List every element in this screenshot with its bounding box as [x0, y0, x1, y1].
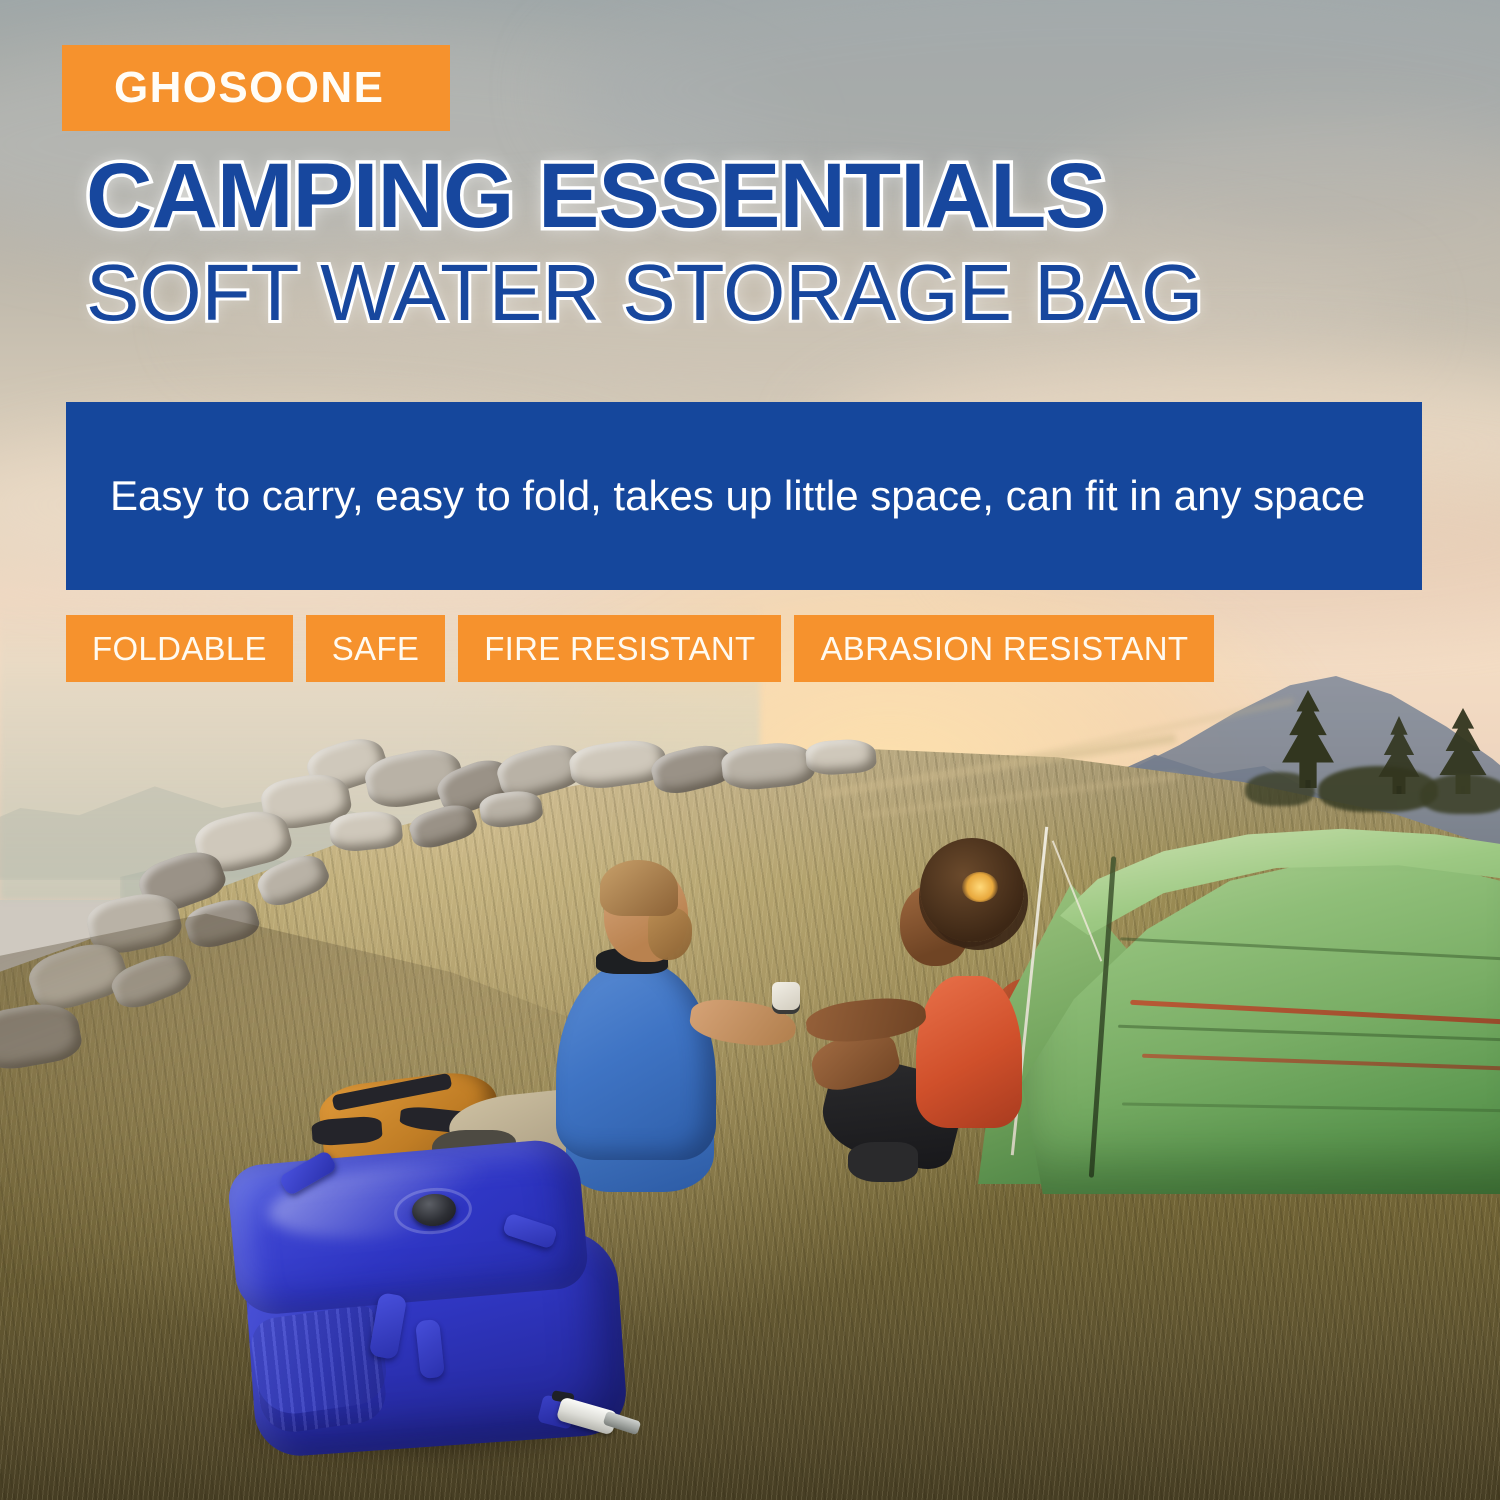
headline-line-2: SOFT WATER STORAGE BAG: [86, 250, 1436, 336]
woman-top: [916, 976, 1022, 1128]
brand-badge: GHOSOONE: [62, 45, 450, 131]
scrub-bush: [1420, 774, 1500, 814]
feature-tag-row: FOLDABLE SAFE FIRE RESISTANT ABRASION RE…: [66, 615, 1214, 682]
woman-shoe: [848, 1142, 918, 1182]
feature-tag-abrasion-resistant: ABRASION RESISTANT: [794, 615, 1214, 682]
bag-rib-texture: [249, 1304, 390, 1436]
feature-tag-label: ABRASION RESISTANT: [820, 632, 1188, 665]
feature-tag-label: FIRE RESISTANT: [484, 632, 755, 665]
man-hair: [600, 860, 678, 916]
headline-line-1: CAMPING ESSENTIALS: [86, 150, 1436, 244]
headline-block: CAMPING ESSENTIALS SOFT WATER STORAGE BA…: [86, 150, 1436, 336]
brand-name: GHOSOONE: [114, 66, 384, 110]
feature-tag-label: FOLDABLE: [92, 632, 267, 665]
camping-cup: [772, 982, 800, 1014]
product-banner: GHOSOONE CAMPING ESSENTIALS SOFT WATER S…: [0, 0, 1500, 1500]
product-water-bag: [222, 1152, 642, 1476]
feature-tag-label: SAFE: [332, 632, 419, 665]
description-text: Easy to carry, easy to fold, takes up li…: [110, 466, 1365, 526]
sun-flare: [962, 872, 998, 902]
feature-tag-foldable: FOLDABLE: [66, 615, 293, 682]
description-box: Easy to carry, easy to fold, takes up li…: [66, 402, 1422, 590]
feature-tag-safe: SAFE: [306, 615, 445, 682]
feature-tag-fire-resistant: FIRE RESISTANT: [458, 615, 781, 682]
